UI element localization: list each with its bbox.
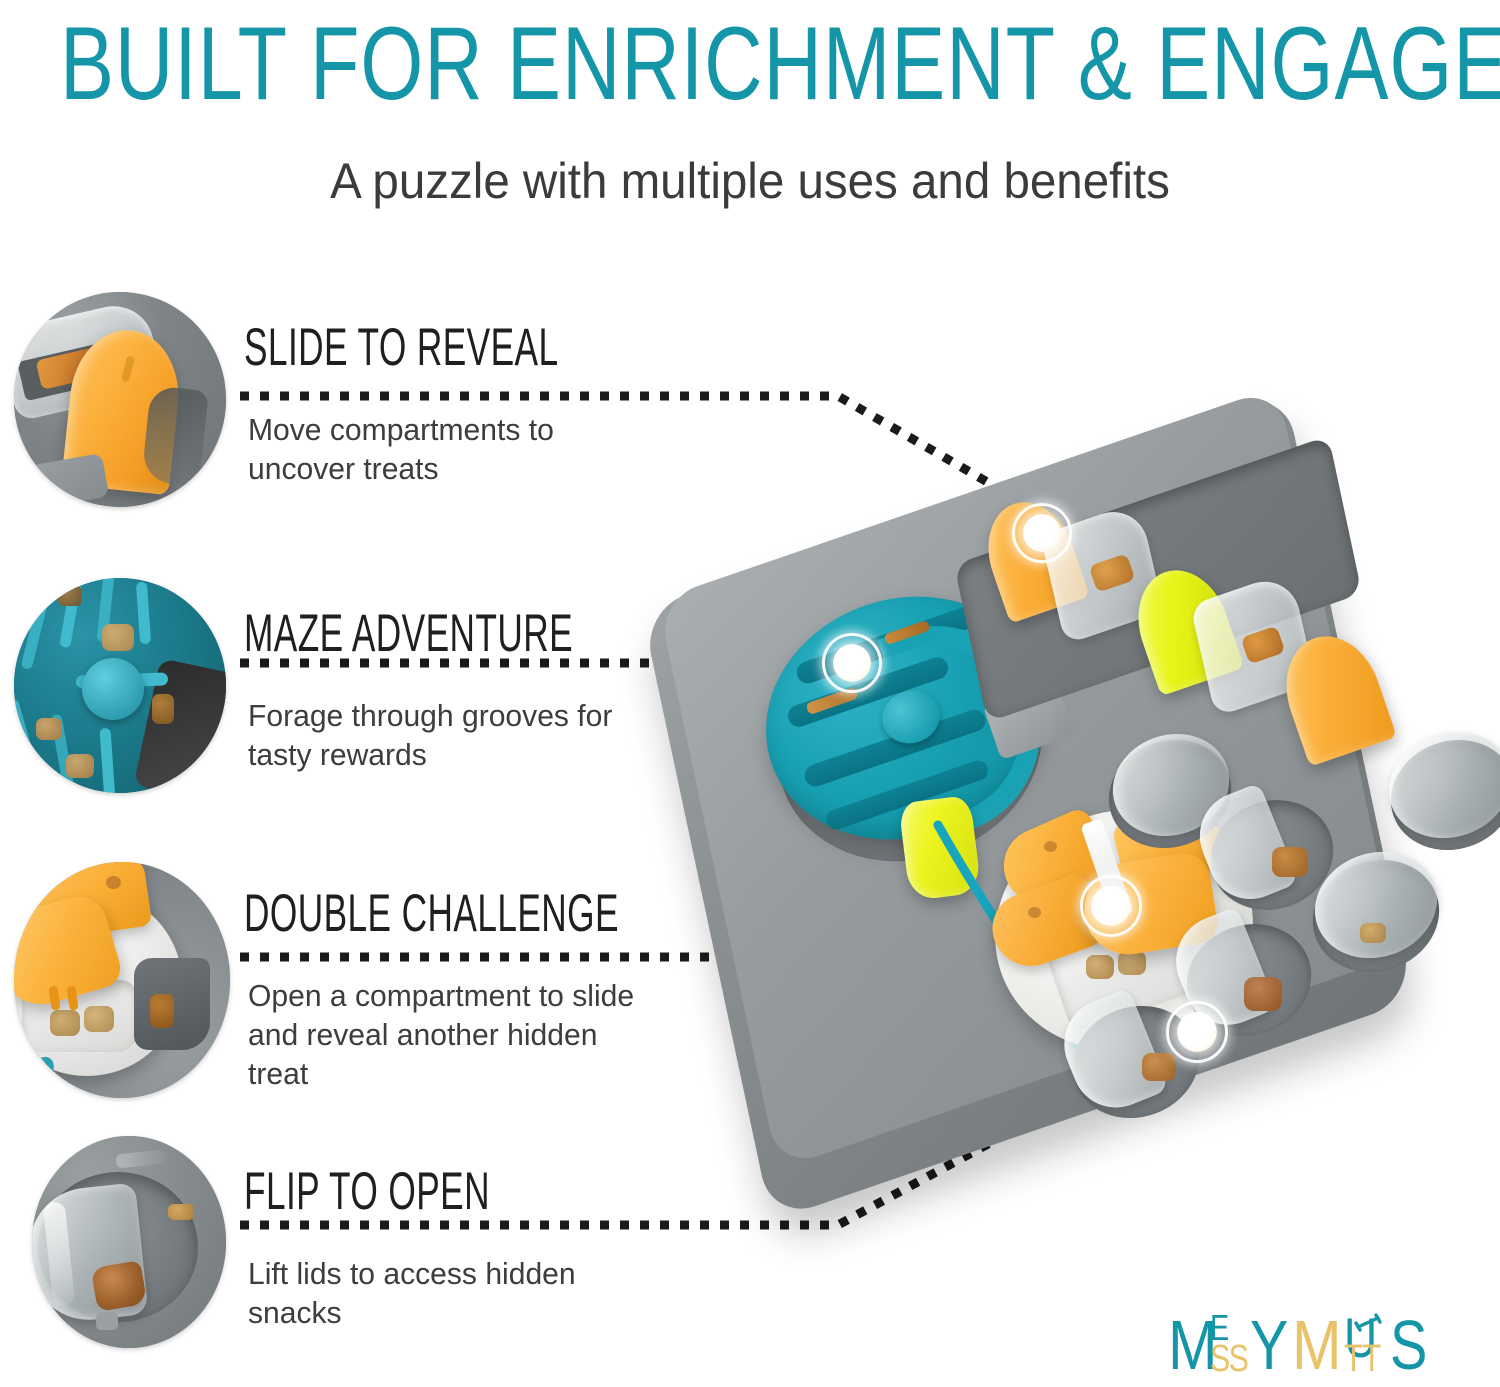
dome-treat bbox=[1244, 977, 1282, 1011]
logo-letter-y: Y bbox=[1250, 1310, 1288, 1380]
dome-treat bbox=[1142, 1053, 1176, 1081]
logo-letter-s: S bbox=[1390, 1310, 1427, 1380]
dome-treat bbox=[1272, 847, 1308, 877]
feature-title-maze-adventure: MAZE ADVENTURE bbox=[244, 606, 573, 662]
carousel-lid-dot bbox=[1044, 841, 1057, 852]
feature-title-flip-to-open: FLIP TO OPEN bbox=[244, 1164, 490, 1220]
feature-thumbnail-maze-adventure bbox=[14, 578, 226, 793]
page-subheadline: A puzzle with multiple uses and benefits bbox=[38, 150, 1463, 212]
callout-marker-slide-to-reveal[interactable] bbox=[1012, 503, 1072, 563]
feature-double-challenge: DOUBLE CHALLENGE Open a compartment to s… bbox=[14, 862, 654, 1098]
feature-thumbnail-flip-to-open bbox=[32, 1136, 226, 1348]
feature-maze-adventure: MAZE ADVENTURE Forage through grooves fo… bbox=[14, 578, 654, 793]
carousel-kibble bbox=[1086, 955, 1114, 979]
feature-description-maze-adventure: Forage through grooves for tasty rewards bbox=[248, 696, 636, 774]
feature-thumbnail-slide-to-reveal bbox=[14, 292, 226, 507]
feature-thumbnail-double-challenge bbox=[14, 862, 230, 1098]
callout-marker-flip-to-open[interactable] bbox=[1166, 1001, 1228, 1063]
bone-icon bbox=[1354, 1314, 1388, 1334]
carousel-kibble bbox=[1118, 951, 1146, 975]
feature-description-double-challenge: Open a compartment to slide and reveal a… bbox=[248, 976, 646, 1093]
feature-description-flip-to-open: Lift lids to access hidden snacks bbox=[248, 1254, 646, 1332]
feature-description-slide-to-reveal: Move compartments to uncover treats bbox=[248, 410, 636, 488]
brand-logo: M E SS Y M U TT S bbox=[1168, 1296, 1436, 1376]
carousel-lid-dot bbox=[1028, 907, 1041, 918]
feature-slide-to-reveal: SLIDE TO REVEAL Move compartments to unc… bbox=[14, 292, 654, 507]
page-headline: BUILT FOR ENRICHMENT & ENGAGEMENT bbox=[60, 2, 1440, 125]
logo-letter-tt: TT bbox=[1344, 1340, 1380, 1378]
product-image bbox=[672, 455, 1500, 1185]
feature-title-double-challenge: DOUBLE CHALLENGE bbox=[244, 886, 619, 942]
logo-letter-m2: M bbox=[1292, 1310, 1342, 1380]
callout-marker-maze-adventure[interactable] bbox=[822, 633, 882, 693]
dome-kibble bbox=[1360, 923, 1386, 943]
feature-flip-to-open: FLIP TO OPEN Lift lids to access hidden … bbox=[32, 1136, 672, 1351]
feature-title-slide-to-reveal: SLIDE TO REVEAL bbox=[244, 320, 558, 376]
callout-marker-double-challenge[interactable] bbox=[1080, 875, 1142, 937]
logo-letter-ss: SS bbox=[1210, 1340, 1247, 1378]
